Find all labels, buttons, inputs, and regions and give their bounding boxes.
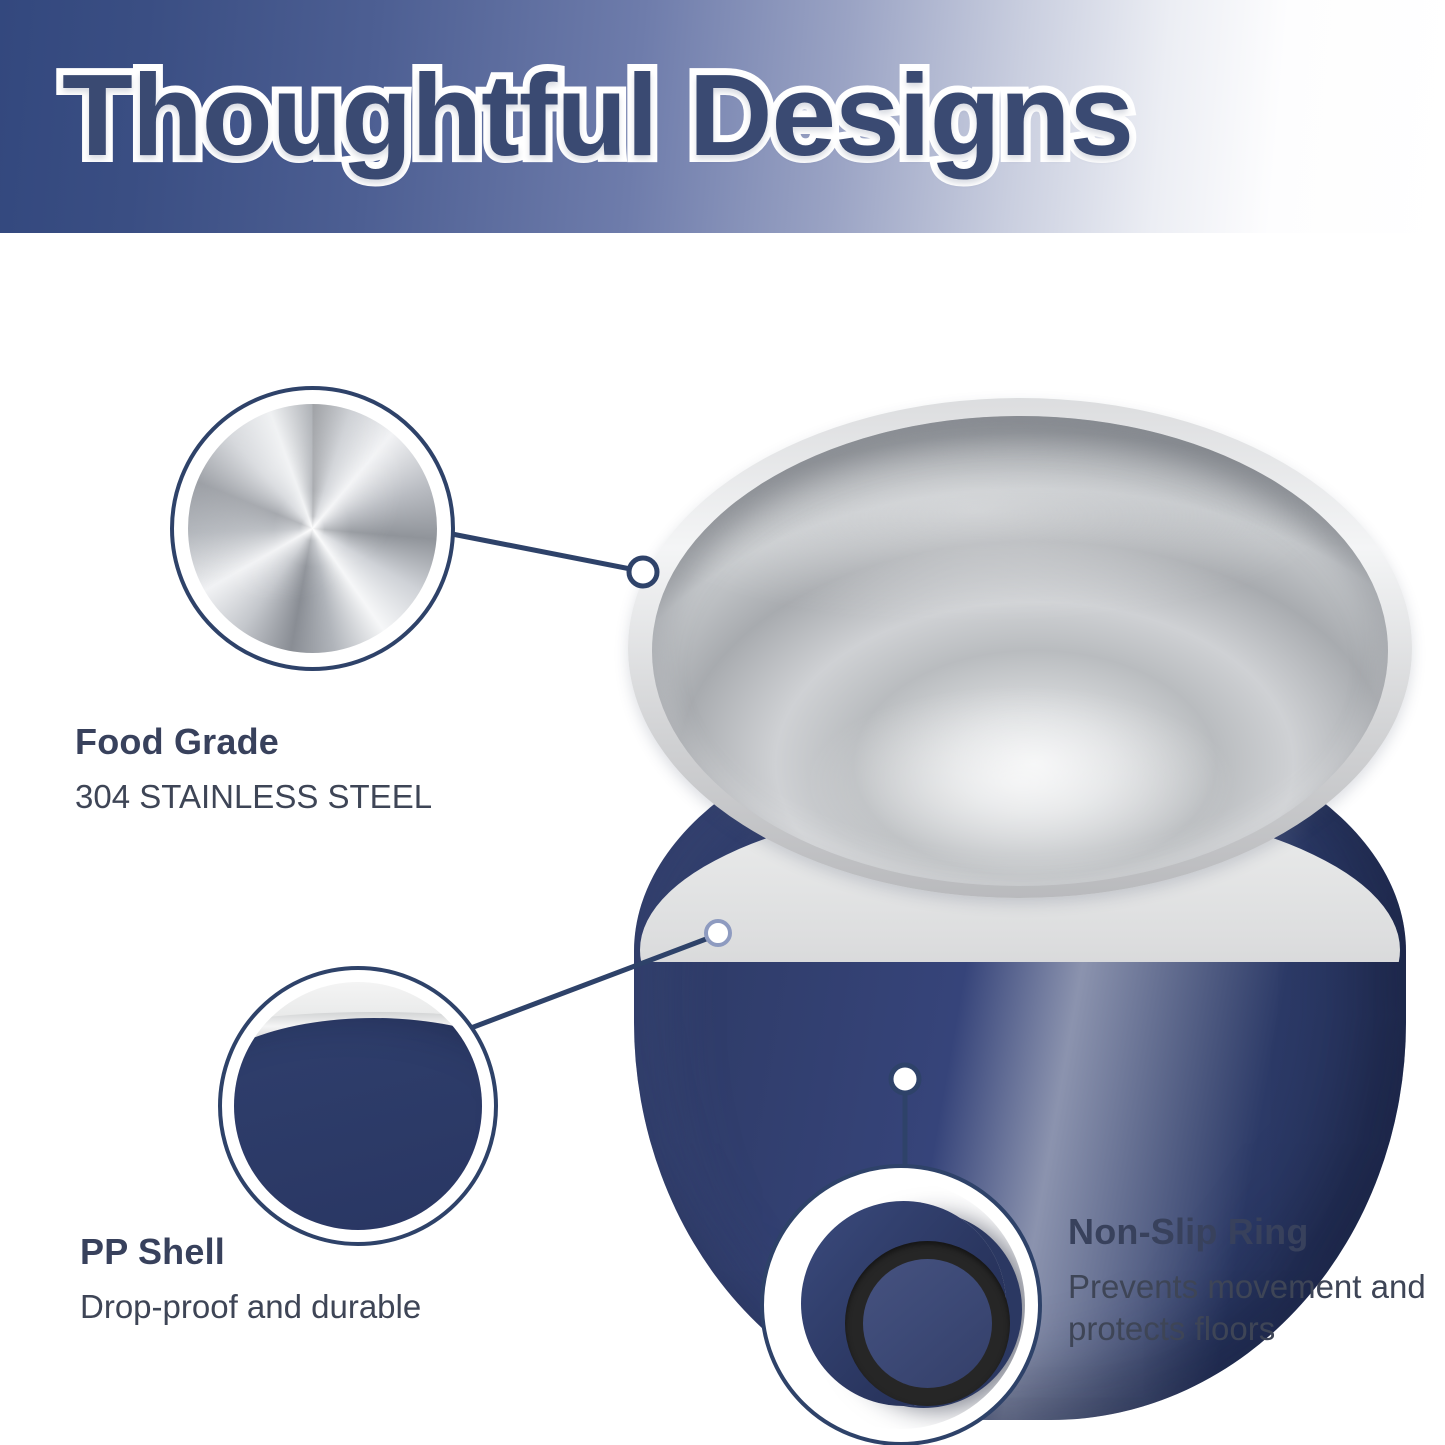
page-title: Thoughtful Designs	[62, 48, 1133, 182]
callout-circle-pp-shell	[218, 966, 498, 1246]
base-blue-puck	[801, 1201, 1006, 1406]
bowl-interior-shading	[652, 416, 1388, 886]
feature-text-food-grade: Food Grade 304 STAINLESS STEEL	[75, 722, 545, 818]
feature-title-non-slip-ring: Non-Slip Ring	[1068, 1212, 1440, 1252]
feature-subtitle-pp-shell: Drop-proof and durable	[80, 1286, 550, 1329]
brushed-steel-disc-icon	[188, 404, 437, 653]
callout-circle-food-grade	[170, 386, 455, 671]
feature-title-pp-shell: PP Shell	[80, 1232, 550, 1272]
header-banner: Thoughtful Designs	[0, 0, 1445, 233]
feature-text-pp-shell: PP Shell Drop-proof and durable	[80, 1232, 550, 1328]
shell-blue-surface	[234, 1018, 482, 1230]
bowl-base-rubber-ring-icon	[777, 1181, 1025, 1429]
callout-circle-non-slip-ring	[760, 1164, 1042, 1445]
feature-subtitle-food-grade: 304 STAINLESS STEEL	[75, 776, 545, 819]
blue-shell-closeup-icon	[234, 982, 482, 1230]
feature-title-food-grade: Food Grade	[75, 722, 545, 762]
feature-subtitle-non-slip-ring: Prevents movement and protects floors	[1068, 1266, 1440, 1352]
feature-text-non-slip-ring: Non-Slip Ring Prevents movement and prot…	[1068, 1212, 1440, 1351]
product-bowl-image	[600, 380, 1440, 1120]
base-center-pad	[863, 1259, 992, 1388]
infographic-canvas: Thoughtful Designs	[0, 0, 1445, 1445]
